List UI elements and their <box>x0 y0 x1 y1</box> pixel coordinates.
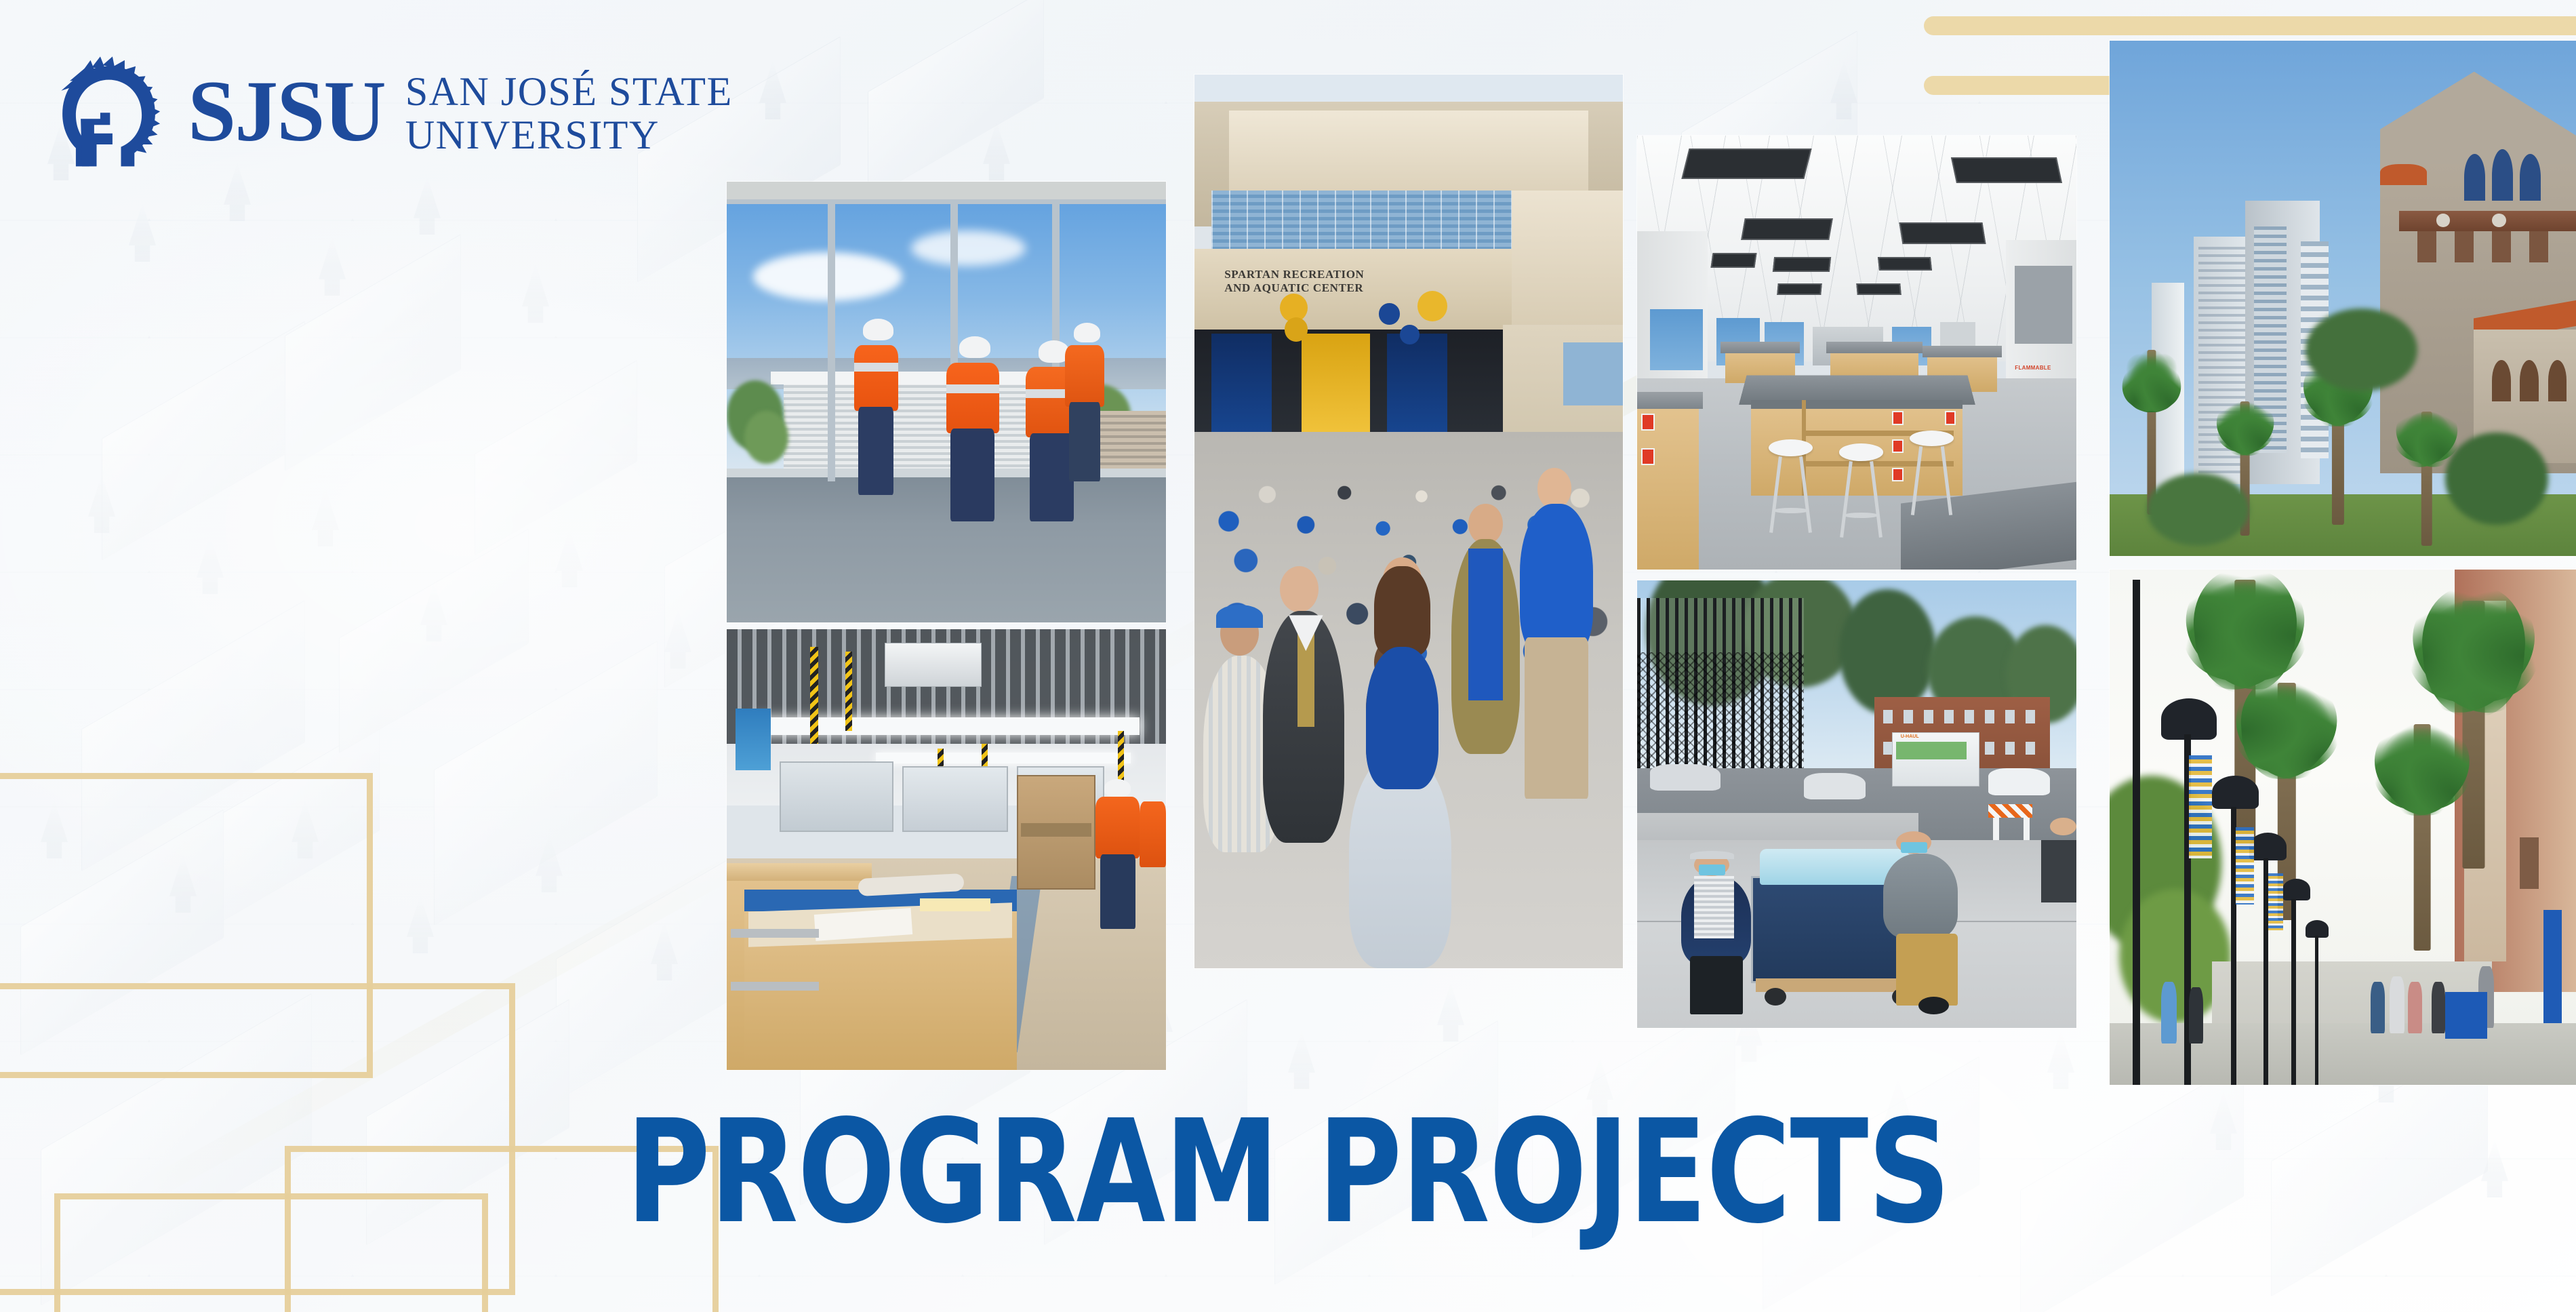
photo-lab-construction <box>727 629 1166 1070</box>
sjsu-wordmark: SJSU SAN JOSÉ STATE UNIVERSITY <box>188 71 733 157</box>
spartan-helmet-icon <box>53 53 165 175</box>
gold-accent-bar-top <box>1924 16 2576 35</box>
photo-spartan-rec-opening: SPARTAN RECREATION AND AQUATIC CENTER <box>1194 75 1623 968</box>
banner-title: PROGRAM PROJECTS <box>0 1112 2576 1233</box>
sjsu-logo-lockup: SJSU SAN JOSÉ STATE UNIVERSITY <box>53 53 733 175</box>
photo-tower-hall <box>2110 41 2576 556</box>
building-sign-line1: SPARTAN RECREATION <box>1224 268 1422 282</box>
photo-paseo-palms <box>2110 570 2576 1085</box>
university-name-line1: SAN JOSÉ STATE <box>405 71 733 114</box>
photo-science-lab-rendering: FLAMMABLE <box>1637 136 2076 570</box>
photo-construction-tour <box>727 182 1166 622</box>
page-title: PROGRAM PROJECTS <box>0 1101 2576 1244</box>
university-name-line2: UNIVERSITY <box>405 114 733 157</box>
program-projects-banner: SJSU SAN JOSÉ STATE UNIVERSITY <box>0 0 2576 1312</box>
building-sign-line2: AND AQUATIC CENTER <box>1224 281 1422 296</box>
photo-move-in-day: U-HAUL <box>1637 580 2076 1028</box>
sjsu-letters: SJSU <box>188 68 385 155</box>
